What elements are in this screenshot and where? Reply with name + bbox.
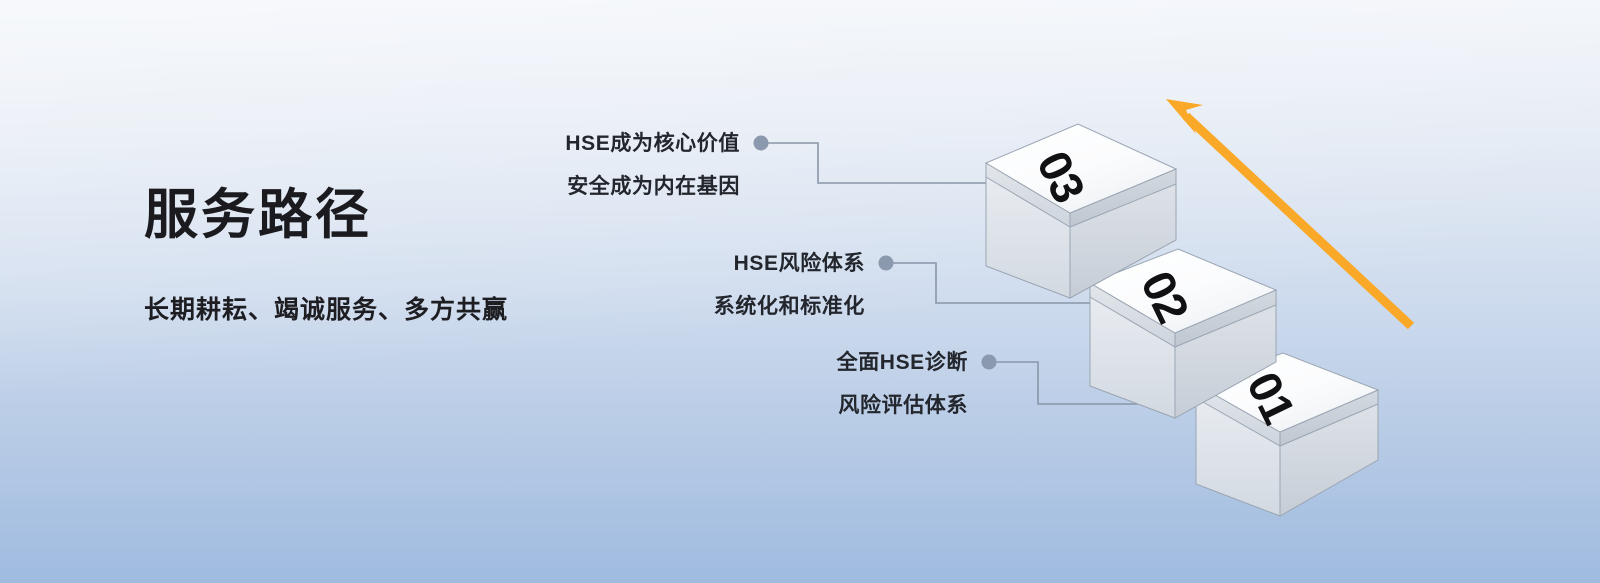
step-1-dot (982, 355, 997, 370)
step-3-dot (754, 136, 769, 151)
slide-canvas: 服务路径 长期耕耘、竭诚服务、多方共赢 HSE成为核心价值 安全成为内在基因 H… (0, 0, 1600, 583)
step-3-connector (768, 143, 986, 183)
diagram-graphics: 01 02 03 (0, 0, 1600, 583)
step-2-dot (879, 256, 894, 271)
